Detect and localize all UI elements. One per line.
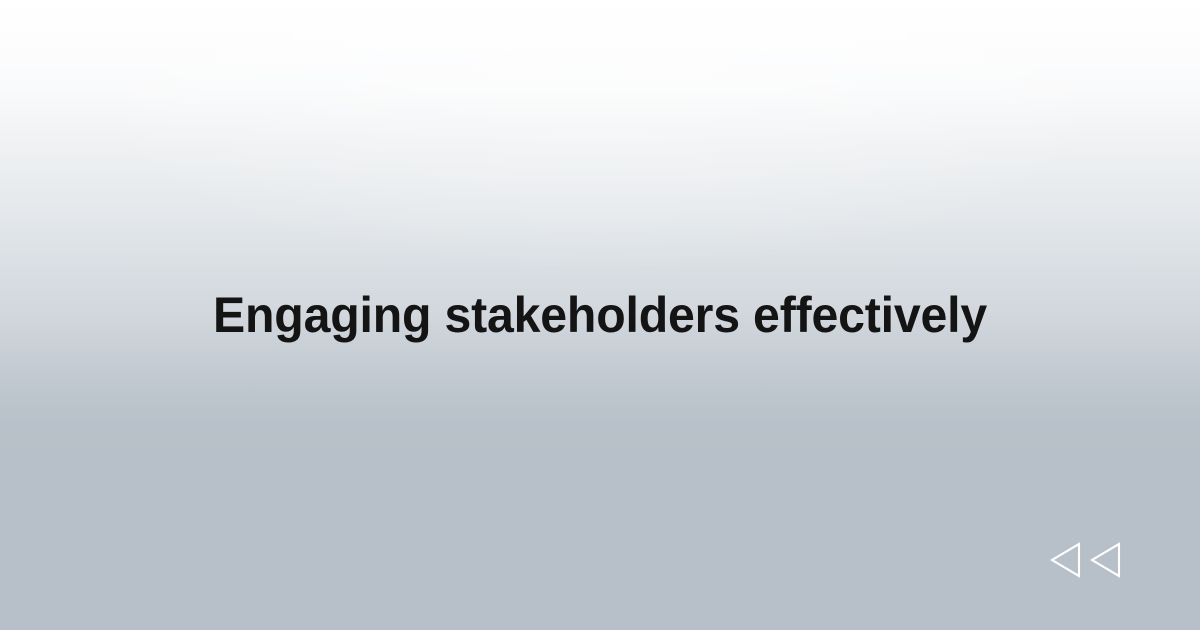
triangle-left-icon-2[interactable] (1088, 540, 1122, 580)
rewind-button[interactable] (1048, 540, 1122, 580)
page-title: Engaging stakeholders effectively (213, 287, 987, 343)
banner-card: Engaging stakeholders effectively (0, 0, 1200, 630)
title-container: Engaging stakeholders effectively (0, 0, 1200, 630)
triangle-left-icon-1[interactable] (1048, 540, 1082, 580)
